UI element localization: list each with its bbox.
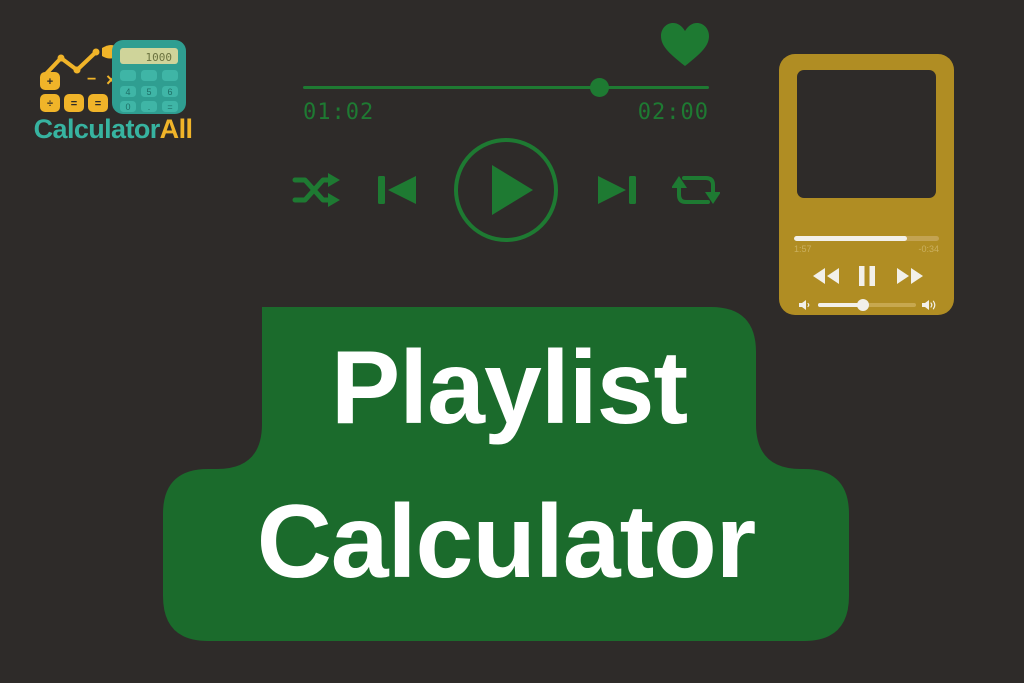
page-title-line-2: Calculator (163, 490, 849, 594)
time-elapsed-label: 01:02 (303, 100, 374, 125)
device-playback-controls (794, 258, 939, 294)
poster-canvas: Playlist Calculator − × + (0, 0, 1024, 683)
svg-text:=: = (95, 98, 101, 110)
heart-icon[interactable] (659, 21, 711, 69)
volume-low-icon (797, 298, 811, 312)
rewind-icon[interactable] (812, 267, 840, 285)
svg-text:÷: ÷ (47, 98, 53, 110)
volume-track[interactable] (818, 303, 916, 307)
pause-icon[interactable] (857, 265, 877, 287)
device-time-elapsed-label: 1:57 (794, 244, 812, 254)
fast-forward-icon[interactable] (896, 267, 924, 285)
progress-track[interactable] (303, 86, 709, 89)
svg-text:5: 5 (146, 87, 151, 97)
playback-time-row: 01:02 02:00 (303, 100, 709, 128)
device-time-row: 1:57 -0:34 (794, 244, 939, 258)
brand-wordmark-primary: Calculator (34, 114, 160, 144)
device-progress-fill (794, 236, 907, 241)
device-screen (797, 70, 936, 198)
svg-text:+: + (47, 76, 53, 88)
svg-text:1000: 1000 (146, 51, 173, 64)
device-volume-slider[interactable] (791, 296, 942, 314)
brand-wordmark-secondary: All (160, 114, 193, 144)
svg-text:=: = (71, 98, 77, 110)
play-icon[interactable] (452, 136, 560, 244)
skip-previous-icon[interactable] (376, 169, 418, 211)
volume-thumb[interactable] (857, 299, 869, 311)
brand-wordmark: CalculatorAll (18, 114, 208, 145)
page-title-line-1: Playlist (262, 336, 756, 440)
device-time-remaining-label: -0:34 (918, 244, 939, 254)
device-progress-slider[interactable] (794, 236, 939, 241)
time-total-label: 02:00 (638, 100, 709, 125)
svg-text:4: 4 (125, 87, 130, 97)
svg-text:−: − (87, 71, 96, 88)
volume-high-icon (921, 298, 937, 312)
svg-text:6: 6 (167, 87, 172, 97)
skip-next-icon[interactable] (596, 169, 638, 211)
playback-controls (290, 132, 722, 248)
svg-text:=: = (167, 102, 172, 112)
svg-text:0: 0 (125, 102, 130, 112)
playback-progress-slider[interactable] (303, 82, 709, 94)
repeat-icon[interactable] (672, 168, 720, 212)
calculator-chart-logo-icon: − × + ÷ = = 1000 (14, 18, 210, 114)
brand-logo[interactable]: − × + ÷ = = 1000 (14, 18, 210, 150)
svg-text:.: . (148, 102, 151, 112)
shuffle-icon[interactable] (292, 168, 340, 212)
portable-media-player: 1:57 -0:34 (779, 54, 954, 315)
